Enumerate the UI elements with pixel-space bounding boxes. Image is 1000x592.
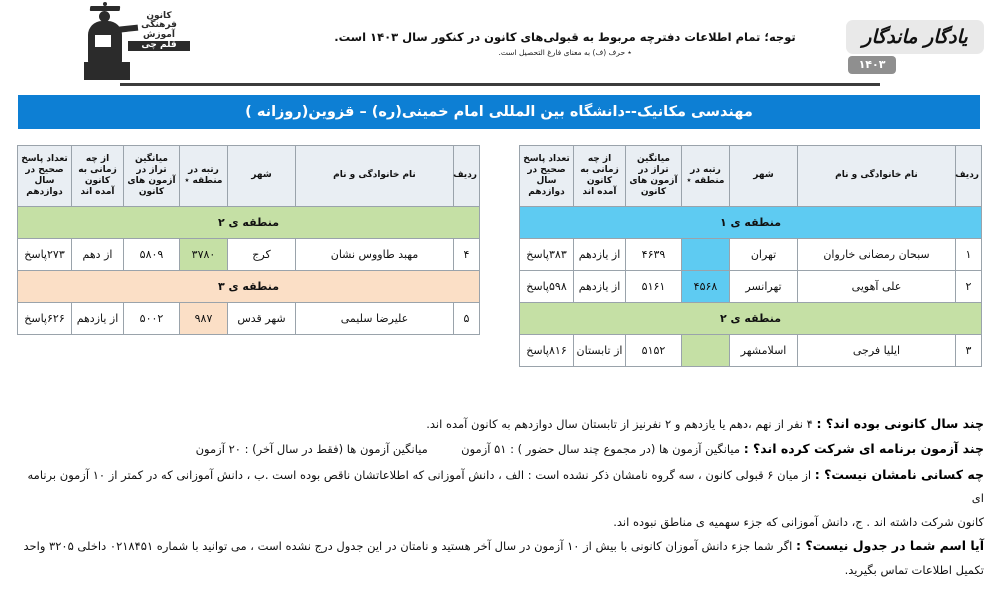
section-label: منطقه ی ۱ (520, 207, 982, 239)
cell-answers: ۵۹۸پاسخ (520, 271, 574, 303)
cell-row-no: ۳ (956, 335, 982, 367)
section-label: منطقه ی ۲ (520, 303, 982, 335)
badge-title: یادگار ماندگار (846, 20, 984, 54)
logo-word-4: قلم چی (128, 41, 190, 50)
section-label: منطقه ی ۲ (18, 207, 480, 239)
faq-item-exams: چند آزمون برنامه ای شرکت کرده اند؟ : میا… (16, 437, 984, 461)
cell-name: سبحان رمضانی خاروان (798, 239, 956, 271)
right-table-body: منطقه ی ۱ ۱ سبحان رمضانی خاروان تهران ۴۶… (520, 207, 982, 367)
notice-main-text: توجه؛ تمام اطلاعات دفترچه مربوط به قبولی… (300, 30, 830, 44)
graduate-figure-icon (84, 4, 130, 82)
faq-item-name-not-listed: آیا اسم شما در جدول نیست؟ : اگر شما جزء … (16, 534, 984, 558)
cell-name: مهبد طاووس نشان (296, 239, 454, 271)
faq-question-years: چند سال کانونی بوده اند؟ : (816, 416, 984, 431)
cell-taraz: ۵۱۶۱ (626, 271, 682, 303)
faq-section: چند سال کانونی بوده اند؟ : ۴ نفر از نهم … (16, 412, 984, 583)
cell-rank: ۹۸۷ (180, 303, 228, 335)
faq-answer-exams-total: میانگین آزمون ها (در مجموع چند سال حضور … (461, 442, 740, 456)
col-header-answers: تعداد پاسخ صحیح در سال دوازدهم (520, 146, 574, 207)
kanoon-logo: کانون فرهنگی آموزش قلم چی (80, 4, 200, 84)
faq-answer-name-not-listed-line2: تکمیل اطلاعات تماس بگیرید. (845, 563, 984, 577)
cell-city: کرج (228, 239, 296, 271)
page-title: مهندسی مکانیک--دانشگاه بین المللی امام خ… (18, 95, 980, 129)
cell-row-no: ۴ (454, 239, 480, 271)
cell-answers: ۳۸۳پاسخ (520, 239, 574, 271)
col-header-row-no: ردیف (454, 146, 480, 207)
faq-answer-missing-names-line2-wrap: کانون شرکت داشته اند . ج، دانش آموزانی ک… (16, 511, 984, 533)
faq-item-years: چند سال کانونی بوده اند؟ : ۴ نفر از نهم … (16, 412, 984, 436)
faq-answer-exams-final-year: میانگین آزمون ها (فقط در سال آخر) : ۲۰ آ… (196, 442, 428, 456)
cell-since: از تابستان (574, 335, 626, 367)
cell-city: شهر قدس (228, 303, 296, 335)
cell-since: از یازدهم (72, 303, 124, 335)
header-notice: توجه؛ تمام اطلاعات دفترچه مربوط به قبولی… (300, 30, 830, 57)
cell-answers: ۶۲۶پاسخ (18, 303, 72, 335)
cell-taraz: ۴۶۳۹ (626, 239, 682, 271)
rankings-table-left: ردیف نام خانوادگی و نام شهر رتبه در منطق… (18, 145, 480, 335)
table-row: ۲ علی آهویی تهرانسر ۴۵۶۸ ۵۱۶۱ از یازدهم … (520, 271, 982, 303)
section-row: منطقه ی ۳ (18, 271, 480, 303)
cell-rank: ۴۵۶۸ (682, 271, 730, 303)
table-row: ۳ ایلیا فرجی اسلامشهر ۵۱۵۲ از تابستان ۸۱… (520, 335, 982, 367)
masthead: کانون فرهنگی آموزش قلم چی توجه؛ تمام اطل… (0, 0, 1000, 88)
col-header-since: از چه زمانی به کانون آمده اند (72, 146, 124, 207)
section-label: منطقه ی ۳ (18, 271, 480, 303)
cell-row-no: ۲ (956, 271, 982, 303)
col-header-answers: تعداد پاسخ صحیح در سال دوازدهم (18, 146, 72, 207)
cell-row-no: ۵ (454, 303, 480, 335)
cell-taraz: ۵۱۵۲ (626, 335, 682, 367)
cell-taraz: ۵۰۰۲ (124, 303, 180, 335)
cell-answers: ۸۱۶پاسخ (520, 335, 574, 367)
cell-answers: ۲۷۳پاسخ (18, 239, 72, 271)
table-row: ۵ علیرضا سلیمی شهر قدس ۹۸۷ ۵۰۰۲ از یازده… (18, 303, 480, 335)
faq-question-name-not-listed: آیا اسم شما در جدول نیست؟ : (796, 538, 984, 553)
header-divider (120, 83, 880, 86)
faq-question-exams: چند آزمون برنامه ای شرکت کرده اند؟ : (744, 441, 984, 456)
cell-rank (682, 335, 730, 367)
cell-name: علی آهویی (798, 271, 956, 303)
section-row: منطقه ی ۱ (520, 207, 982, 239)
col-header-rank: رتبه در منطقه ٭ (180, 146, 228, 207)
section-row: منطقه ی ۲ (520, 303, 982, 335)
col-header-rank: رتبه در منطقه ٭ (682, 146, 730, 207)
cell-name: ایلیا فرجی (798, 335, 956, 367)
col-header-city: شهر (228, 146, 296, 207)
rankings-table-right: ردیف نام خانوادگی و نام شهر رتبه در منطق… (520, 145, 982, 367)
col-header-since: از چه زمانی به کانون آمده اند (574, 146, 626, 207)
notice-footnote-text: ٭ حرف (ف) به معنای فارغ التحصیل است. (300, 48, 830, 57)
cell-rank: ۳۷۸۰ (180, 239, 228, 271)
cell-rank (682, 239, 730, 271)
table-row: ۱ سبحان رمضانی خاروان تهران ۴۶۳۹ از یازد… (520, 239, 982, 271)
left-table-body: منطقه ی ۲ ۴ مهبد طاووس نشان کرج ۳۷۸۰ ۵۸۰… (18, 207, 480, 335)
cell-taraz: ۵۸۰۹ (124, 239, 180, 271)
table-header-row: ردیف نام خانوادگی و نام شهر رتبه در منطق… (520, 146, 982, 207)
col-header-name: نام خانوادگی و نام (296, 146, 454, 207)
col-header-taraz: میانگین تراز در آزمون های کانون (124, 146, 180, 207)
section-row: منطقه ی ۲ (18, 207, 480, 239)
col-header-city: شهر (730, 146, 798, 207)
logo-word-3: آموزش (128, 31, 190, 40)
cell-city: تهران (730, 239, 798, 271)
faq-answer-missing-names-line2: کانون شرکت داشته اند . ج، دانش آموزانی ک… (613, 515, 984, 529)
logo-wordmark: کانون فرهنگی آموزش قلم چی (128, 12, 190, 51)
faq-question-missing-names: چه کسانی نامشان نیست؟ : (815, 467, 984, 482)
yadegar-mandegar-badge: یادگار ماندگار ۱۴۰۳ (842, 18, 984, 80)
cell-city: تهرانسر (730, 271, 798, 303)
col-header-taraz: میانگین تراز در آزمون های کانون (626, 146, 682, 207)
cell-since: از یازدهم (574, 239, 626, 271)
table-header-row: ردیف نام خانوادگی و نام شهر رتبه در منطق… (18, 146, 480, 207)
cell-since: از دهم (72, 239, 124, 271)
badge-year: ۱۴۰۳ (848, 56, 896, 74)
table-row: ۴ مهبد طاووس نشان کرج ۳۷۸۰ ۵۸۰۹ از دهم ۲… (18, 239, 480, 271)
cell-row-no: ۱ (956, 239, 982, 271)
cell-city: اسلامشهر (730, 335, 798, 367)
cell-name: علیرضا سلیمی (296, 303, 454, 335)
faq-item-missing-names: چه کسانی نامشان نیست؟ : از میان ۶ قبولی … (16, 463, 984, 510)
cell-since: از یازدهم (574, 271, 626, 303)
faq-answer-name-not-listed-line2-wrap: تکمیل اطلاعات تماس بگیرید. (16, 559, 984, 581)
col-header-row-no: ردیف (956, 146, 982, 207)
col-header-name: نام خانوادگی و نام (798, 146, 956, 207)
faq-answer-name-not-listed-line1: اگر شما جزء دانش آموزان کانونی با بیش از… (23, 539, 792, 553)
faq-answer-years: ۴ نفر از نهم ،دهم یا یازدهم و ۲ نفرنیز ا… (426, 417, 813, 431)
